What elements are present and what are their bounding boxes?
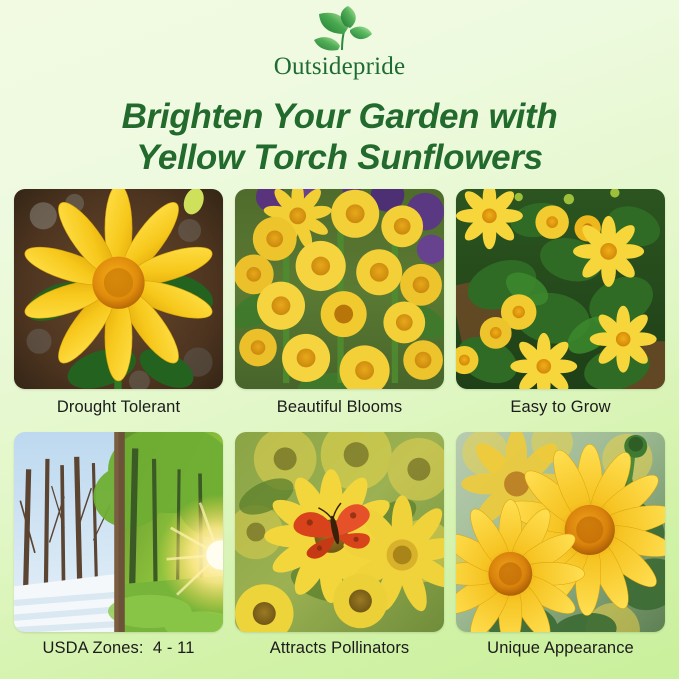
- feature-card-drought-tolerant: Drought Tolerant: [14, 189, 223, 428]
- brand-logo: Outsidepride: [0, 0, 679, 92]
- feature-grid: Drought Tolerant: [0, 179, 679, 679]
- feature-card-usda-zones: USDA Zones: 4 - 11: [14, 432, 223, 671]
- brand-name: Outsidepride: [274, 54, 406, 79]
- feature-row-2: USDA Zones: 4 - 11: [14, 432, 665, 671]
- feature-image-butterfly-on-bloom: [235, 432, 444, 632]
- feature-caption-usda-zones: USDA Zones: 4 - 11: [14, 632, 223, 658]
- headline-line-1: Brighten Your Garden with: [20, 96, 659, 137]
- feature-caption-beautiful-blooms: Beautiful Blooms: [235, 389, 444, 417]
- feature-caption-easy-to-grow: Easy to Grow: [456, 389, 665, 417]
- leaf-sprout-icon: [292, 4, 388, 60]
- feature-image-closeup-two-blooms: [456, 432, 665, 632]
- feature-card-easy-to-grow: Easy to Grow: [456, 189, 665, 428]
- feature-image-mass-blooms-purple: [235, 189, 444, 389]
- feature-image-single-bloom-soil: [14, 189, 223, 389]
- feature-row-1: Drought Tolerant: [14, 189, 665, 428]
- infographic-root: Outsidepride Brighten Your Garden with Y…: [0, 0, 679, 679]
- feature-image-winter-summer-forest: [14, 432, 223, 632]
- feature-card-unique-appearance: Unique Appearance: [456, 432, 665, 671]
- feature-card-attracts-pollinators: Attracts Pollinators: [235, 432, 444, 671]
- feature-caption-drought-tolerant: Drought Tolerant: [14, 389, 223, 417]
- feature-caption-attracts-pollinators: Attracts Pollinators: [235, 632, 444, 658]
- headline-line-2: Yellow Torch Sunflowers: [20, 137, 659, 178]
- feature-card-beautiful-blooms: Beautiful Blooms: [235, 189, 444, 428]
- feature-image-flowers-foliage: [456, 189, 665, 389]
- page-title: Brighten Your Garden with Yellow Torch S…: [0, 92, 679, 179]
- feature-caption-unique-appearance: Unique Appearance: [456, 632, 665, 658]
